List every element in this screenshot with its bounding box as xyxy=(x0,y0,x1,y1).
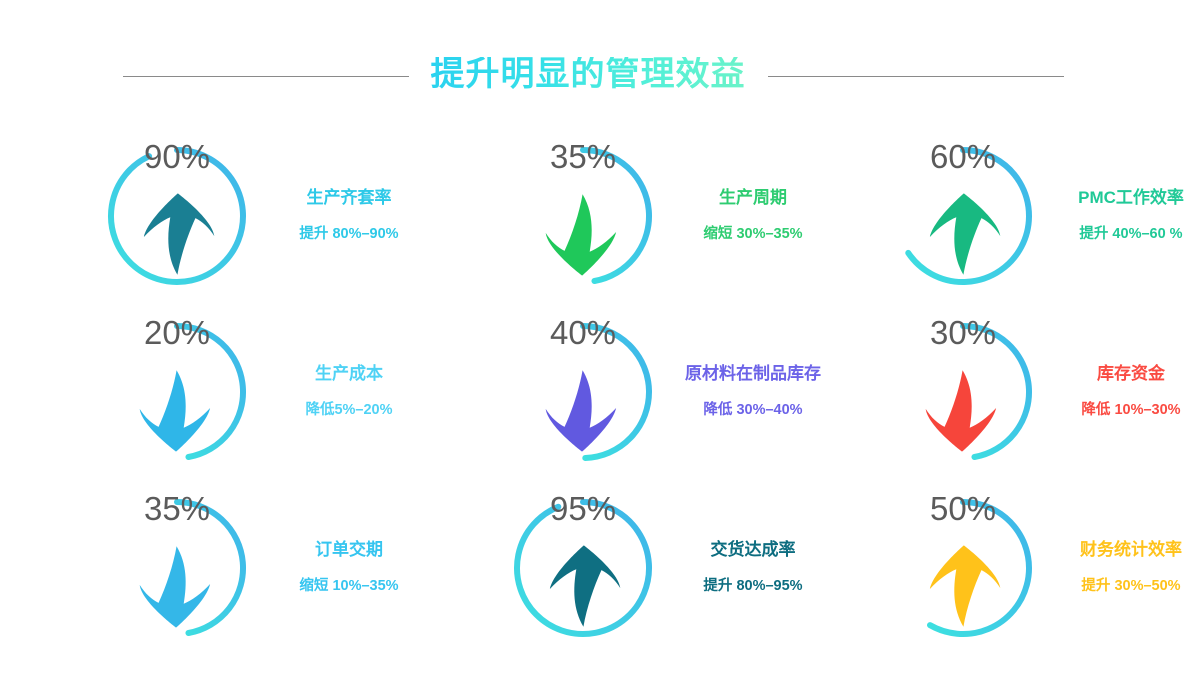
kpi-title: 生产齐套率 xyxy=(307,189,392,208)
progress-arc xyxy=(177,326,243,457)
progress-ring-svg xyxy=(890,495,1036,641)
progress-arc xyxy=(517,502,649,634)
kpi-subtitle: 降低 10%–30% xyxy=(1081,403,1180,419)
kpi-subtitle: 提升 30%–50% xyxy=(1081,579,1180,595)
kpi-labels: 库存资金降低 10%–30% xyxy=(1056,365,1186,420)
kpi-item: 20%生产成本降低5%–20% xyxy=(0,304,424,480)
kpi-item: 30%库存资金降低 10%–30% xyxy=(828,304,1186,480)
progress-ring-svg xyxy=(104,143,250,289)
progress-ring: 90% xyxy=(104,143,250,289)
kpi-labels: 财务统计效率提升 30%–50% xyxy=(1056,541,1186,596)
progress-arc xyxy=(583,150,649,281)
kpi-subtitle: 缩短 30%–35% xyxy=(703,227,802,243)
kpi-title: 库存资金 xyxy=(1097,365,1165,384)
progress-ring: 50% xyxy=(890,495,1036,641)
header-rule-right xyxy=(768,76,1064,77)
kpi-subtitle: 提升 40%–60 % xyxy=(1079,227,1182,243)
progress-arc xyxy=(963,326,1029,457)
kpi-labels: 生产齐套率提升 80%–90% xyxy=(274,189,424,244)
progress-arc xyxy=(177,502,243,633)
kpi-labels: 原材料在制品库存降低 30%–40% xyxy=(678,365,828,420)
progress-ring: 95% xyxy=(510,495,656,641)
kpi-title: 订单交期 xyxy=(315,541,383,560)
progress-ring-svg xyxy=(104,495,250,641)
kpi-title: 交货达成率 xyxy=(711,541,796,560)
kpi-subtitle: 提升 80%–95% xyxy=(703,579,802,595)
progress-ring: 35% xyxy=(510,143,656,289)
kpi-item: 35%订单交期缩短 10%–35% xyxy=(0,480,424,656)
kpi-item: 95%交货达成率提升 80%–95% xyxy=(424,480,828,656)
kpi-labels: 生产成本降低5%–20% xyxy=(274,365,424,420)
page-title: 提升明显的管理效益 xyxy=(431,57,746,95)
progress-arc xyxy=(583,326,649,458)
progress-ring: 60% xyxy=(890,143,1036,289)
kpi-title: 生产周期 xyxy=(719,189,787,208)
page-header: 提升明显的管理效益 xyxy=(0,48,1186,104)
progress-ring: 35% xyxy=(104,495,250,641)
kpi-labels: 交货达成率提升 80%–95% xyxy=(678,541,828,596)
progress-ring-svg xyxy=(104,319,250,465)
kpi-subtitle: 降低 30%–40% xyxy=(703,403,802,419)
progress-ring: 20% xyxy=(104,319,250,465)
header-rule-left xyxy=(123,76,409,77)
progress-ring-svg xyxy=(890,143,1036,289)
progress-arc xyxy=(930,502,1029,634)
progress-arc xyxy=(908,150,1029,282)
kpi-labels: 生产周期缩短 30%–35% xyxy=(678,189,828,244)
kpi-labels: 订单交期缩短 10%–35% xyxy=(274,541,424,596)
kpi-labels: PMC工作效率提升 40%–60 % xyxy=(1056,189,1186,244)
progress-ring: 40% xyxy=(510,319,656,465)
kpi-grid: 90%生产齐套率提升 80%–90%35%生产周期缩短 30%–35%60%PM… xyxy=(0,128,1186,656)
kpi-title: 原材料在制品库存 xyxy=(685,365,821,384)
kpi-subtitle: 缩短 10%–35% xyxy=(299,579,398,595)
kpi-item: 90%生产齐套率提升 80%–90% xyxy=(0,128,424,304)
kpi-title: 财务统计效率 xyxy=(1080,541,1182,560)
progress-ring-svg xyxy=(510,143,656,289)
kpi-item: 40%原材料在制品库存降低 30%–40% xyxy=(424,304,828,480)
kpi-title: PMC工作效率 xyxy=(1078,189,1184,208)
progress-ring: 30% xyxy=(890,319,1036,465)
progress-ring-svg xyxy=(510,495,656,641)
kpi-subtitle: 降低5%–20% xyxy=(305,403,392,419)
progress-ring-svg xyxy=(510,319,656,465)
progress-ring-svg xyxy=(890,319,1036,465)
kpi-item: 35%生产周期缩短 30%–35% xyxy=(424,128,828,304)
kpi-subtitle: 提升 80%–90% xyxy=(299,227,398,243)
kpi-title: 生产成本 xyxy=(315,365,383,384)
kpi-item: 50%财务统计效率提升 30%–50% xyxy=(828,480,1186,656)
kpi-item: 60%PMC工作效率提升 40%–60 % xyxy=(828,128,1186,304)
progress-arc xyxy=(111,150,243,282)
